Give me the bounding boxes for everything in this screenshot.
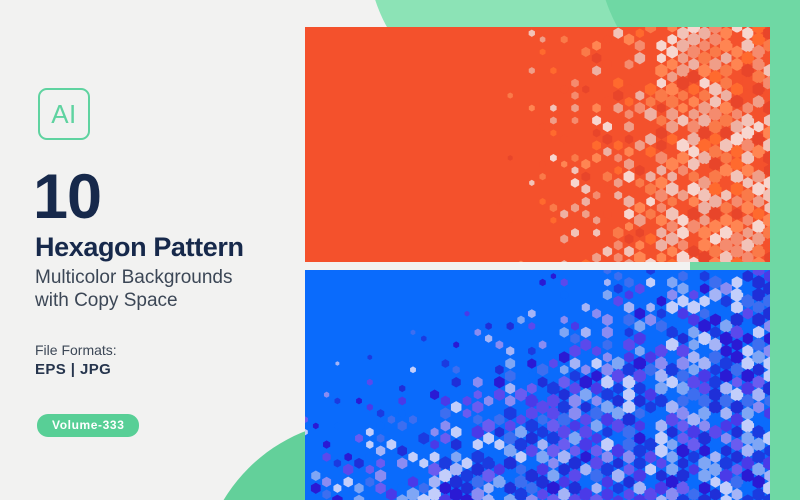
ai-format-badge: AI [38,88,90,140]
file-formats-value: EPS | JPG [35,362,111,377]
file-formats-label: File Formats: [35,343,117,357]
subtitle-line-2: with Copy Space [35,289,295,312]
ai-format-badge-label: AI [51,101,77,127]
poster-canvas: AI 10 Hexagon Pattern Multicolor Backgro… [0,0,800,500]
blue-hexagon-panel [305,270,770,500]
volume-badge: Volume-333 [37,414,139,437]
info-column: AI 10 Hexagon Pattern Multicolor Backgro… [0,0,300,500]
orange-hexagon-pattern [305,27,770,262]
page-title: Hexagon Pattern [35,234,244,261]
pack-count: 10 [33,166,101,229]
subtitle-line-1: Multicolor Backgrounds [35,266,295,289]
blue-hexagon-pattern [305,270,770,500]
page-subtitle: Multicolor Backgrounds with Copy Space [35,266,295,312]
orange-hexagon-panel [305,27,770,262]
